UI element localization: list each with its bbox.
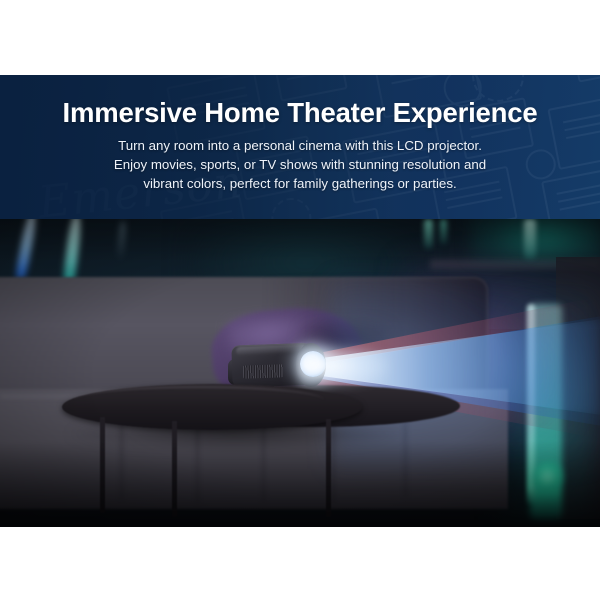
- teal-light-bar-top-b: [440, 219, 447, 245]
- bottom-white-spacer: [0, 527, 600, 600]
- teal-light-bar-top-c: [524, 219, 536, 259]
- headline-banner: Emerson Immersive Home Theater Experienc…: [0, 75, 600, 219]
- banner-description-line-2: Enjoy movies, sports, or TV shows with s…: [114, 156, 486, 175]
- coffee-table-leg: [172, 421, 177, 517]
- product-photo: [0, 219, 600, 527]
- banner-content: Immersive Home Theater Experience Turn a…: [0, 75, 600, 219]
- beam-hotspot: [300, 345, 390, 387]
- banner-description-line-3: vibrant colors, perfect for family gathe…: [114, 175, 486, 194]
- coffee-table-leg: [100, 417, 105, 513]
- coffee-table-rim: [74, 386, 324, 414]
- banner-title: Immersive Home Theater Experience: [63, 99, 538, 128]
- banner-description-line-1: Turn any room into a personal cinema wit…: [114, 137, 486, 156]
- product-banner-page: Emerson Immersive Home Theater Experienc…: [0, 0, 600, 600]
- banner-description: Turn any room into a personal cinema wit…: [114, 137, 486, 194]
- coffee-table-leg: [326, 419, 331, 517]
- top-white-spacer: [0, 0, 600, 75]
- projector-speaker-grill: [243, 364, 283, 378]
- teal-light-bar-top-a: [424, 219, 433, 249]
